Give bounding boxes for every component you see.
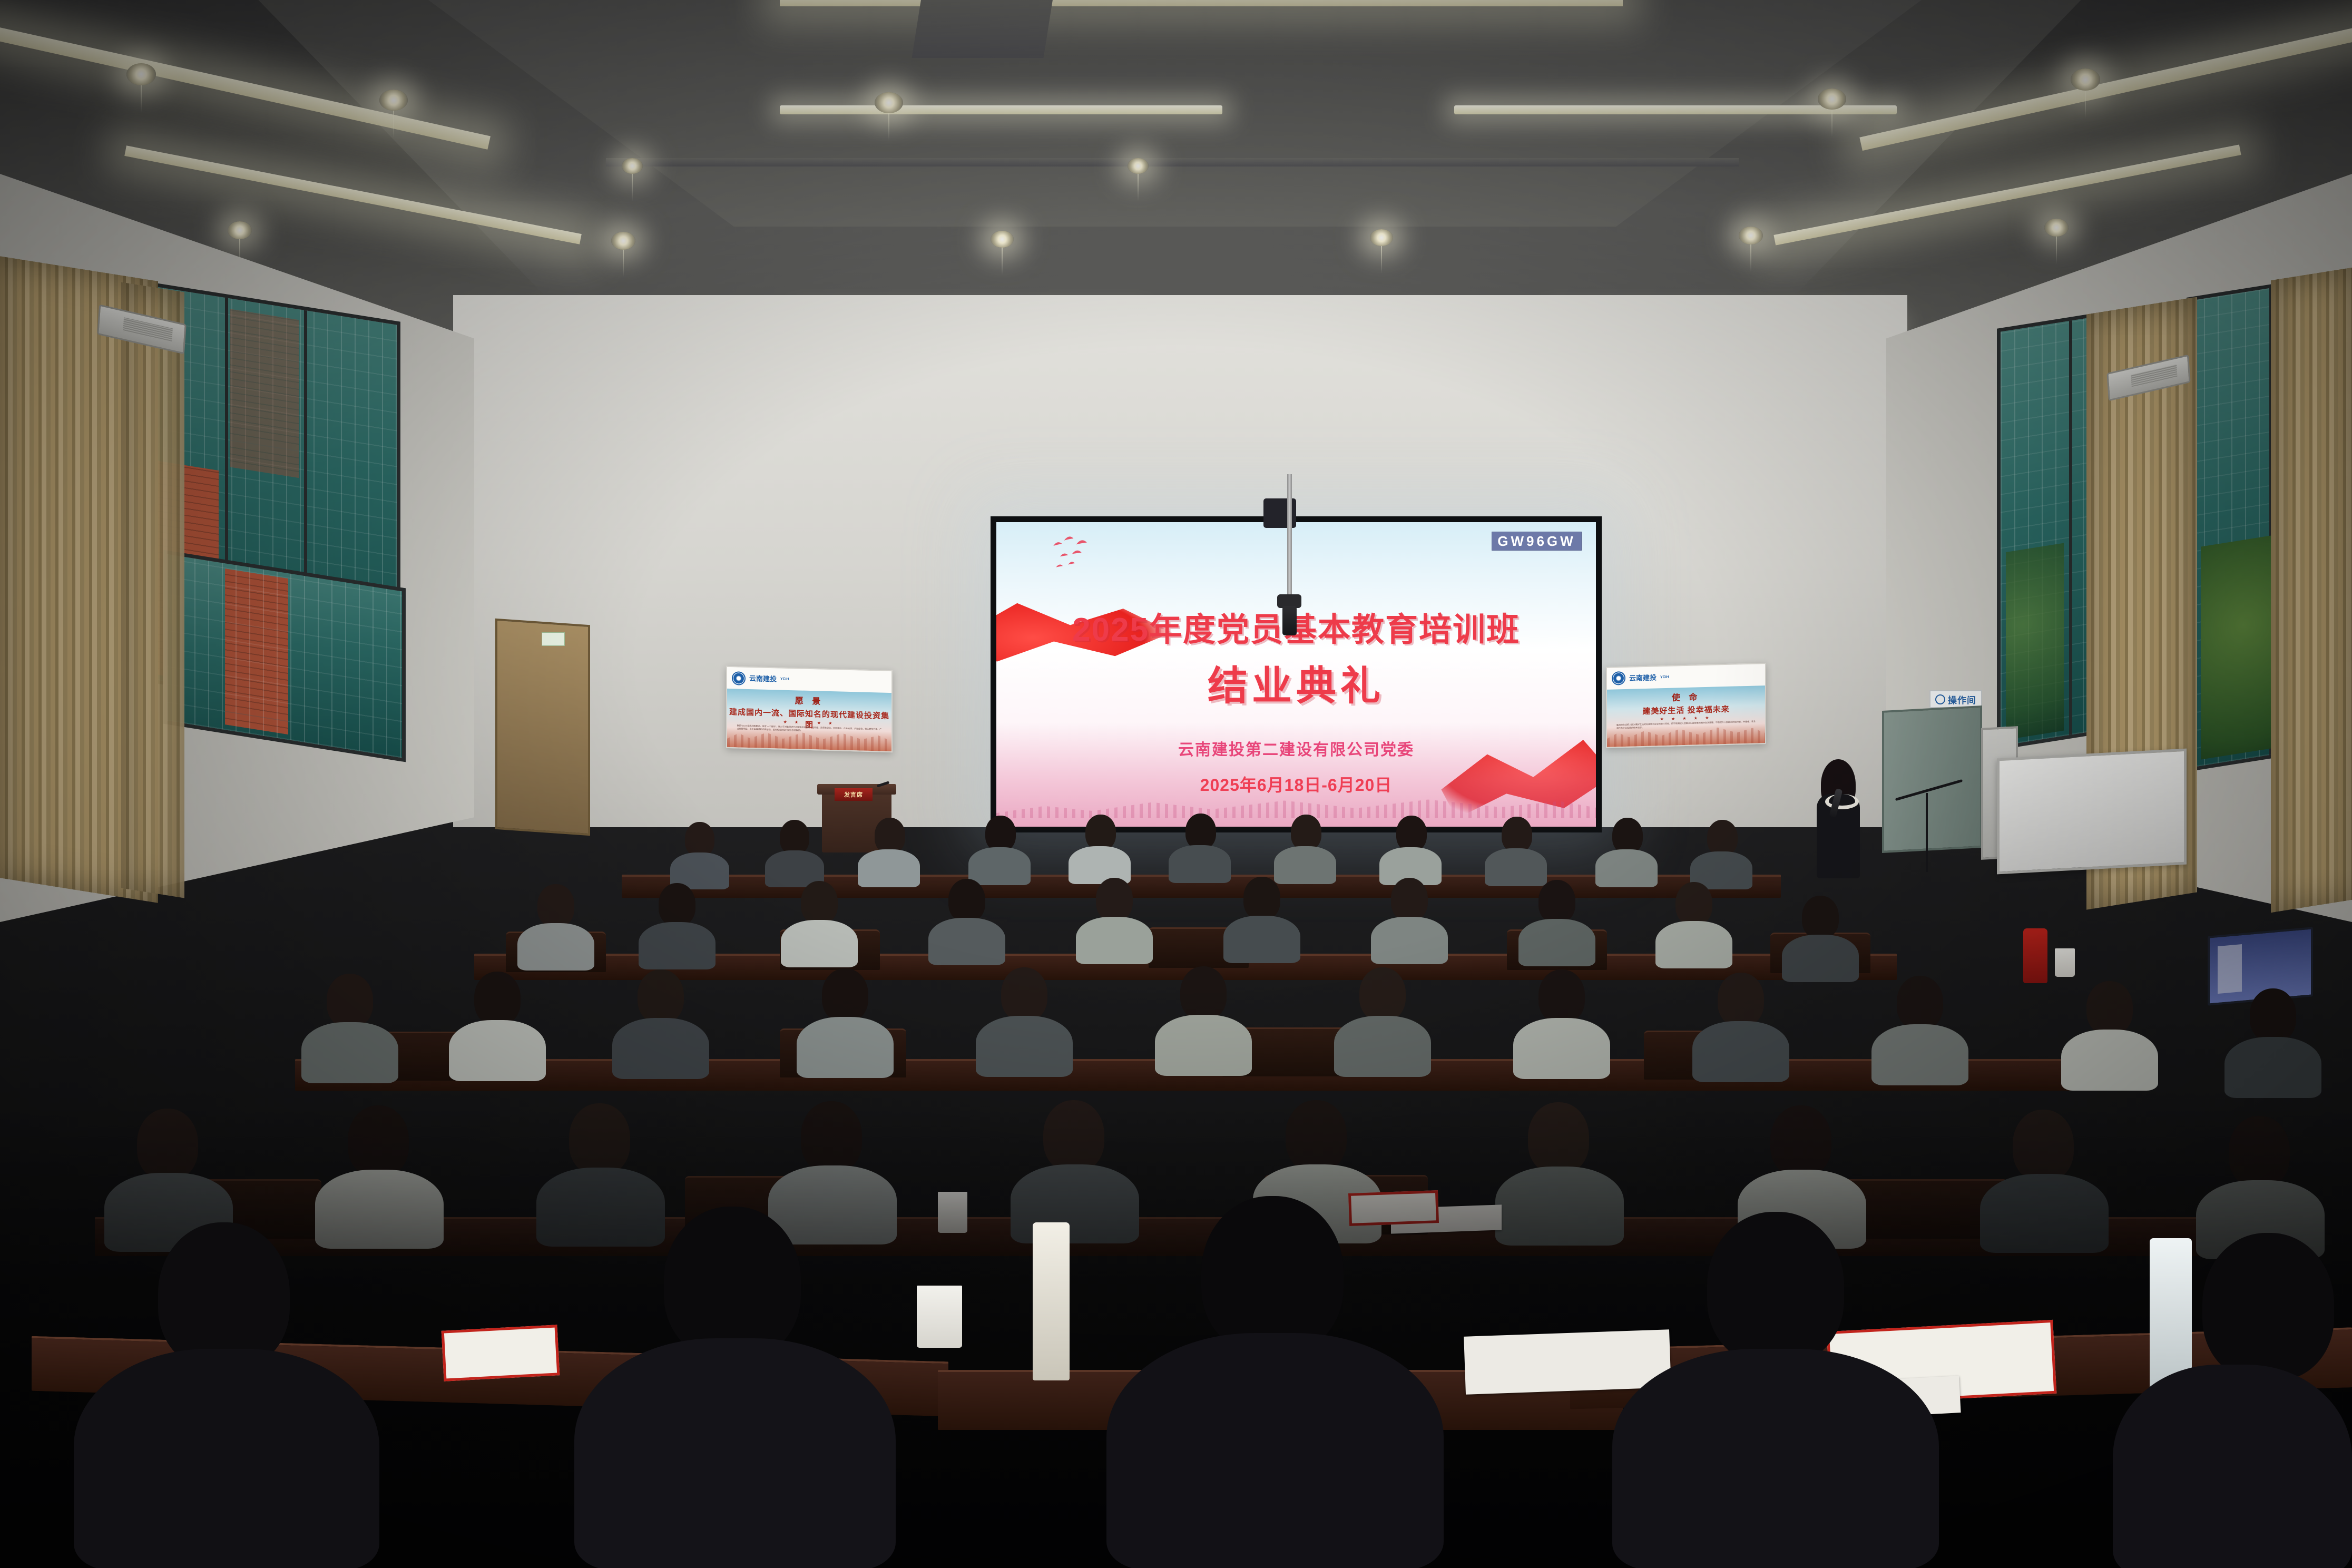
attendee-shoulders [639,922,716,969]
banner-body: 使 命 建美好生活 投幸福未来 ★ ★ ★ ★ ★ 集团将永远把人民对美好生活的… [1607,685,1765,747]
downlight [1818,89,1846,110]
attendee-head [327,974,373,1027]
downlight [228,221,252,239]
banner-body: 愿 景 建成国内一流、国际知名的现代建设投资集团 ★ ★ ★ ★ ★ 集团“12… [727,689,891,751]
downlight [126,63,156,85]
attendee-head [1085,815,1116,850]
attendee-shoulders [1334,1016,1431,1077]
attendee-head [1180,966,1227,1020]
linear-light-1 [780,105,1222,114]
foreground-attendee-shoulders [1106,1333,1444,1568]
foreground-attendee-head [2202,1233,2334,1380]
attendee-head [1538,969,1585,1023]
attendee-shoulders [1655,921,1732,968]
attendee-shoulders [1069,846,1131,884]
attendee-head [1707,820,1738,856]
attendee-shoulders [1223,916,1300,963]
attendee-shoulders [858,849,920,887]
whiteboard[interactable] [1997,749,2187,875]
attendee-shoulders [2224,1037,2321,1098]
curtain-left-b [121,282,184,898]
screen-badge: GW96GW [1492,532,1581,551]
attendee-shoulders [1155,1015,1252,1076]
attendee-head [1185,814,1216,849]
attendee-head [985,816,1016,851]
operation-room-door[interactable] [1882,705,1982,853]
attendee-head [1538,880,1575,923]
water-bottle [2023,928,2047,983]
attendee-shoulders [449,1020,546,1081]
attendee-head [1243,877,1280,920]
downlight [622,158,643,174]
attendee-shoulders [301,1022,398,1083]
attendee-shoulders [1692,1021,1789,1082]
banner-title: 使 命 [1607,688,1765,705]
downlight [1739,227,1763,244]
wall-banner-mission: 云南建投 YCIH 使 命 建美好生活 投幸福未来 ★ ★ ★ ★ ★ 集团将永… [1606,663,1766,748]
attendee-head [1502,817,1532,852]
downlight [2071,68,2100,91]
attendee-head [1802,896,1839,939]
attendee-shoulders [1076,917,1153,964]
attendee-head [875,818,905,854]
curtain-right-b [2271,268,2352,913]
birds-icon [1014,531,1146,598]
foreground-attendee-head [158,1222,290,1370]
attendee-shoulders [1871,1024,1968,1085]
standing-presenter [1812,761,1863,877]
certificate [442,1325,560,1381]
attendee-head [822,968,868,1022]
banner-logo-sub: YCIH [1660,675,1669,679]
left-wooden-door[interactable] [495,619,590,836]
brick-wall-outside [230,309,299,478]
ceiling-beam-1 [912,0,1053,58]
attendee-head [1391,878,1428,921]
attendee-head [1396,816,1427,851]
attendee-shoulders [928,918,1005,965]
ceiling-beam-2 [606,158,1739,166]
water-bottle [1033,1222,1070,1380]
room: GW96GW 2025年度党员基本教育培训班 结业典礼 云南建投第二建设有限公司… [0,0,2352,1568]
camera-lens-icon [1282,606,1297,635]
banner-logo-text: 云南建投 [1629,674,1657,681]
downlight [1370,229,1393,246]
downlight [875,92,903,113]
attendee-head [1291,815,1321,850]
slide-organization: 云南建投第二建设有限公司党委 [996,737,1596,760]
ycih-logo-icon [732,671,746,685]
attendee-head [537,884,574,927]
attendee-shoulders [1513,1018,1610,1079]
podium-nameplate: 发言席 [835,788,873,801]
attendee-head [2250,988,2296,1042]
downlight [1128,158,1149,174]
banner-logo-text: 云南建投 [749,675,777,682]
attendee-head [1096,878,1133,921]
attendee-shoulders [976,1016,1073,1077]
foreground-attendee-shoulders [74,1349,379,1568]
attendee-shoulders [1518,919,1595,966]
attendee-shoulders [2061,1030,2158,1091]
operation-room-label: 操作间 [1948,693,1976,706]
attendee-shoulders [517,923,594,971]
slide-date-range: 2025年6月18日-6月20日 [996,772,1596,796]
attendee-shoulders [781,920,858,967]
wall-banner-vision: 云南建投 YCIH 愿 景 建成国内一流、国际知名的现代建设投资集团 ★ ★ ★… [726,666,893,752]
downlight [991,231,1014,248]
foliage-outside [2006,543,2064,740]
downlight [611,232,635,250]
microphone-stand[interactable] [1926,793,1928,872]
attendee-head [1897,976,1943,1030]
attendee-head [1001,967,1047,1021]
attendee-head [474,972,521,1025]
exit-sign-icon [542,632,565,646]
slide-content: GW96GW 2025年度党员基本教育培训班 结业典礼 云南建投第二建设有限公司… [996,522,1596,827]
attendee-shoulders [1485,848,1547,886]
foreground-attendee-shoulders [574,1338,896,1568]
window-grille-icon [167,554,402,758]
cove-light-top [780,0,1623,6]
attendee-head [1612,818,1643,854]
attendee-shoulders [1782,935,1859,982]
paper-cup [2055,948,2075,977]
attendee-head [659,883,695,926]
attendee-head [801,881,838,924]
attendee-shoulders [1595,849,1658,887]
projection-screen[interactable]: GW96GW 2025年度党员基本教育培训班 结业典礼 云南建投第二建设有限公司… [991,516,1602,832]
ycih-logo-icon [1612,671,1625,685]
attendee-head [1675,882,1712,925]
attendee-head [948,879,985,922]
attendee-shoulders [1274,846,1336,884]
downlight [2044,219,2069,237]
attendee-head [1359,967,1406,1021]
attendee-shoulders [968,847,1031,885]
foreground-attendee-head [664,1207,801,1359]
paper-cup [917,1286,962,1348]
attendee-head [1718,973,1764,1026]
camera-pole [1287,474,1292,611]
foreground-attendee-shoulders [1612,1349,1939,1568]
attendee-head [780,820,809,855]
presenter-collar [1825,794,1859,809]
attendee-shoulders [1371,917,1448,964]
scene-photo: GW96GW 2025年度党员基本教育培训班 结业典礼 云南建投第二建设有限公司… [0,0,2352,1568]
attendee-shoulders [612,1018,709,1079]
attendee-head [2086,981,2133,1035]
attendee-head [638,969,684,1023]
downlight [379,90,408,111]
attendee-shoulders [1169,845,1231,883]
attendee-head [685,822,714,857]
ycih-logo-icon [1935,694,1945,704]
paper-document [1464,1329,1671,1395]
foreground-attendee-shoulders [2113,1365,2352,1568]
banner-title: 愿 景 [727,691,891,708]
foreground-attendee-head [1707,1212,1844,1365]
banner-logo-sub: YCIH [780,678,789,681]
foreground-attendee-head [1201,1196,1344,1354]
attendee-shoulders [797,1017,894,1078]
slide-subtitle: 结业典礼 [996,653,1596,711]
